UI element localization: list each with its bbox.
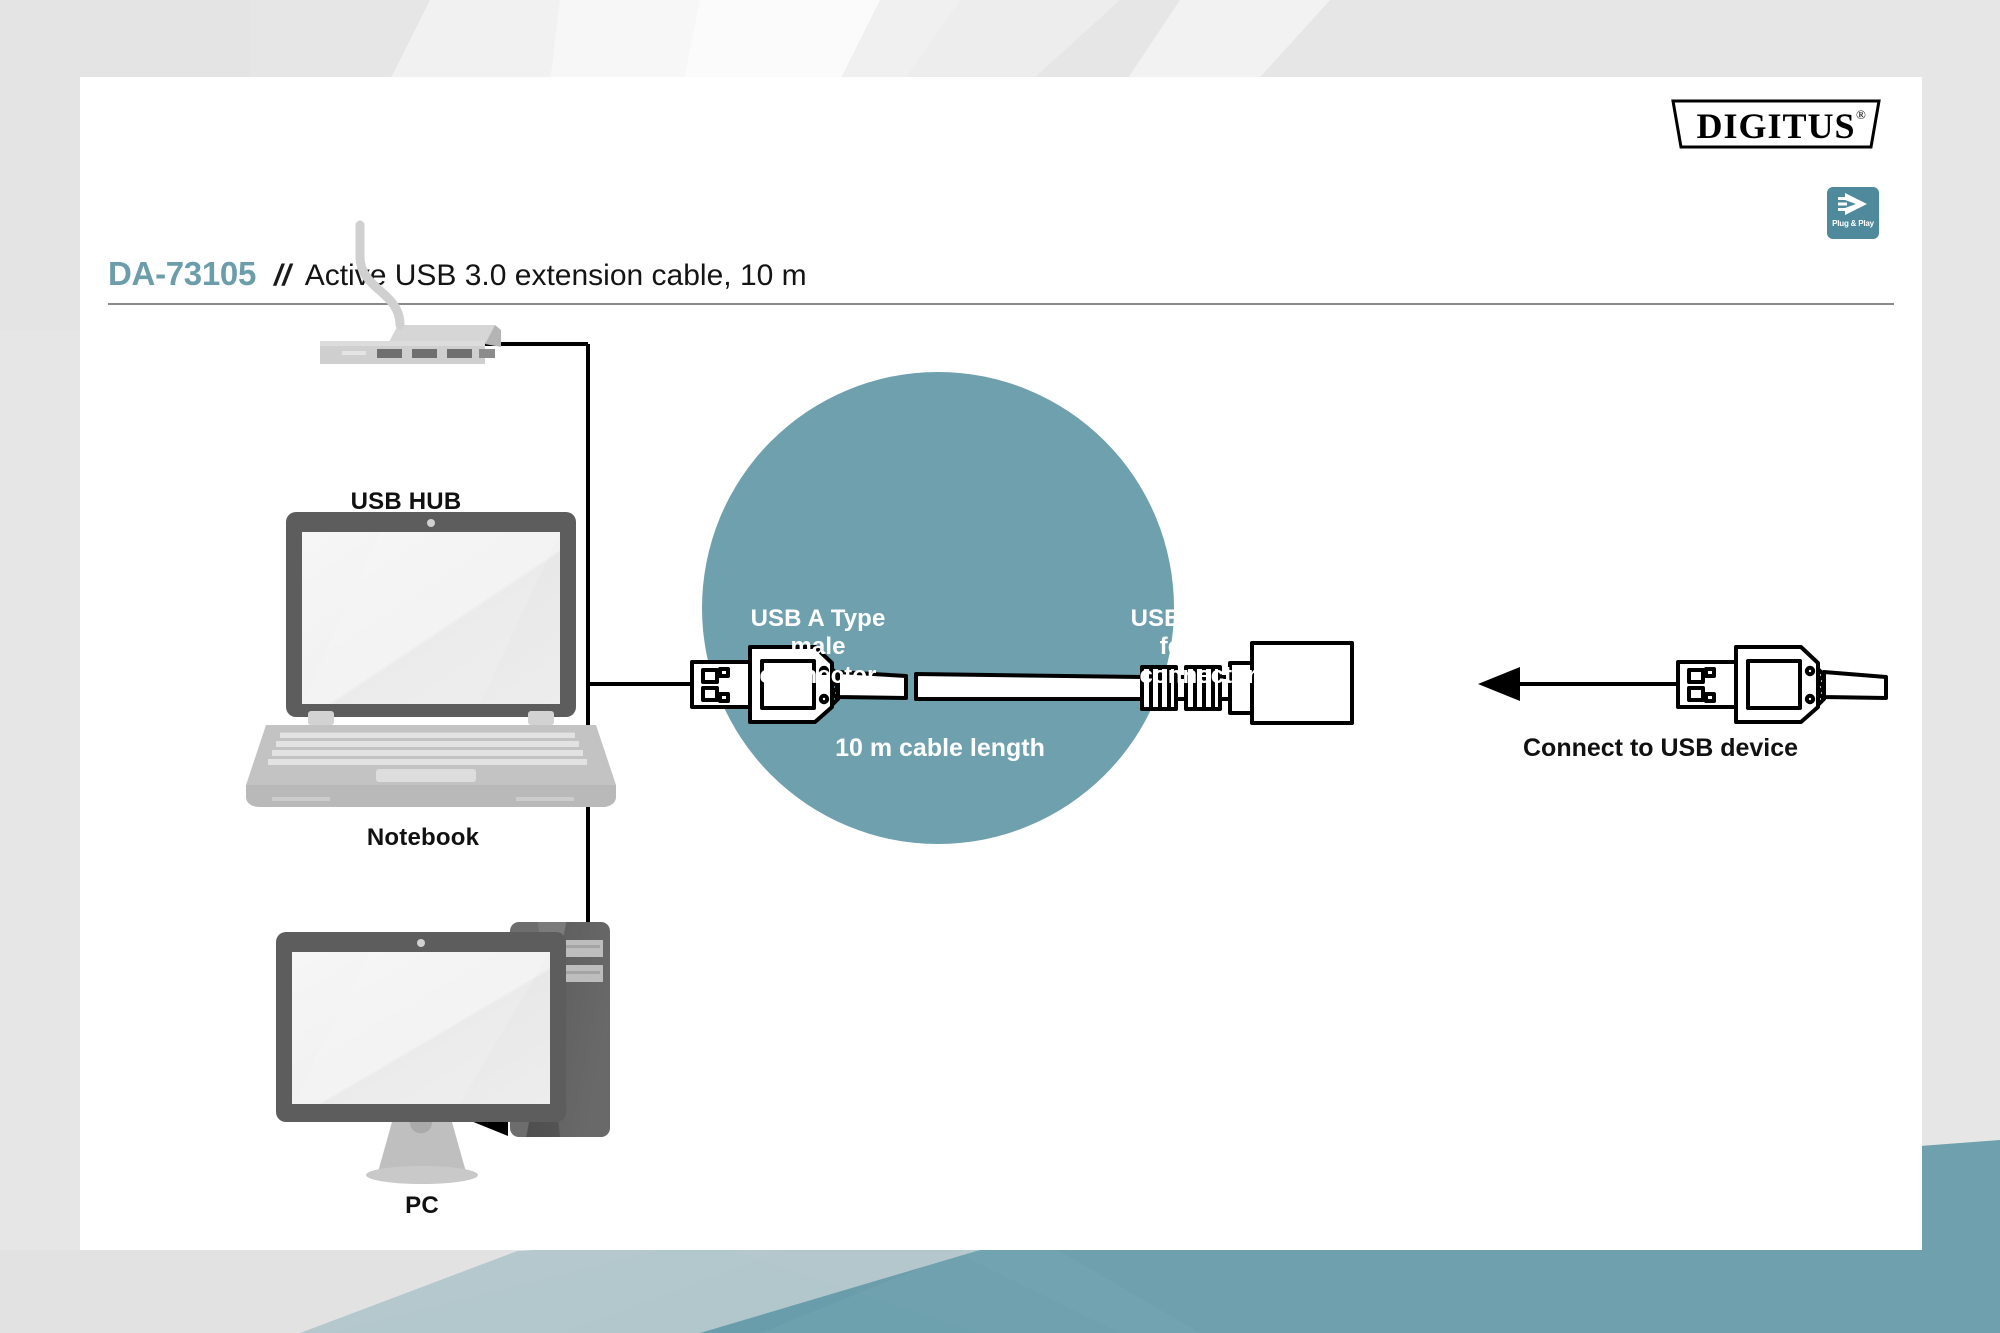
pc-icon: [276, 922, 610, 1184]
device-label-pc: PC: [342, 1192, 502, 1220]
notebook-icon: [246, 512, 616, 807]
female-connector-label: USB A Type female connector: [1084, 605, 1312, 690]
content-card: DIGITUS ® DA-73105 // Active USB 3.0 ext…: [80, 77, 1922, 1250]
cable-length-label: 10 m cable length: [818, 734, 1062, 763]
connection-diagram: [80, 77, 1922, 1250]
usb-hub-icon: [320, 225, 501, 364]
device-label-usb-hub: USB HUB: [326, 488, 486, 516]
male-connector-label: USB A Type male connector: [708, 605, 928, 690]
arrow-head-female: [1478, 667, 1520, 701]
connect-to-usb-device-label: Connect to USB device: [1523, 734, 1798, 763]
usb-a-male-connector-right: [1678, 647, 1886, 722]
device-label-notebook: Notebook: [323, 824, 523, 852]
